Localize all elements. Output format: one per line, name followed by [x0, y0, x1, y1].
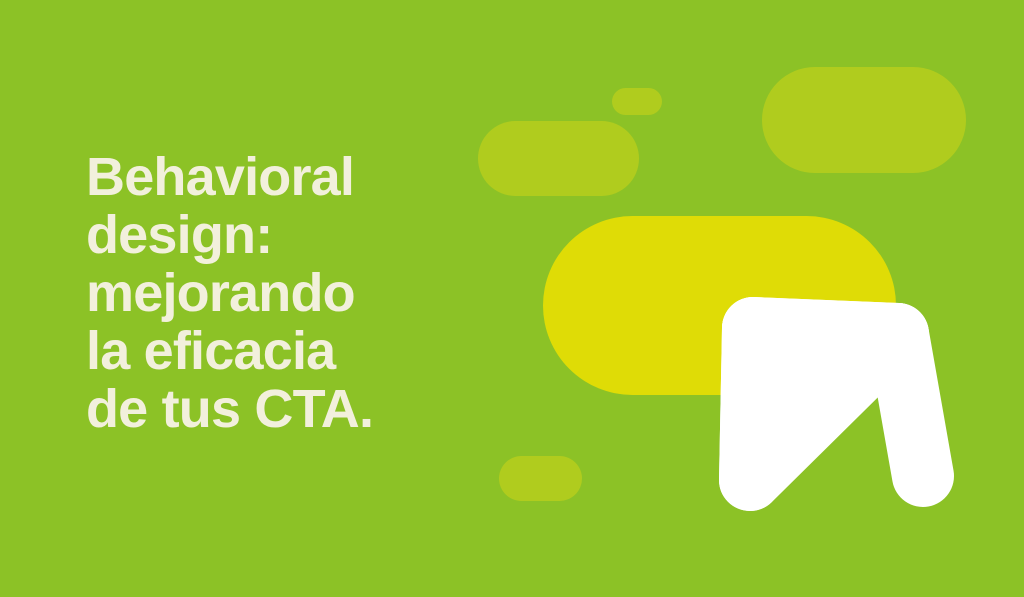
promo-banner: Behavioral design: mejorando la eficacia…: [0, 0, 1024, 597]
decorative-pill-top-right: [762, 67, 966, 173]
cursor-arrow-icon: [690, 280, 980, 540]
decorative-pill-small-bottom: [499, 456, 582, 501]
cursor-arrow-head: [750, 328, 898, 480]
decorative-pill-small-top: [612, 88, 662, 115]
page-title: Behavioral design: mejorando la eficacia…: [86, 148, 486, 438]
decorative-pill-mid-left: [478, 121, 639, 196]
cursor-arrow-glyph: [690, 280, 980, 540]
